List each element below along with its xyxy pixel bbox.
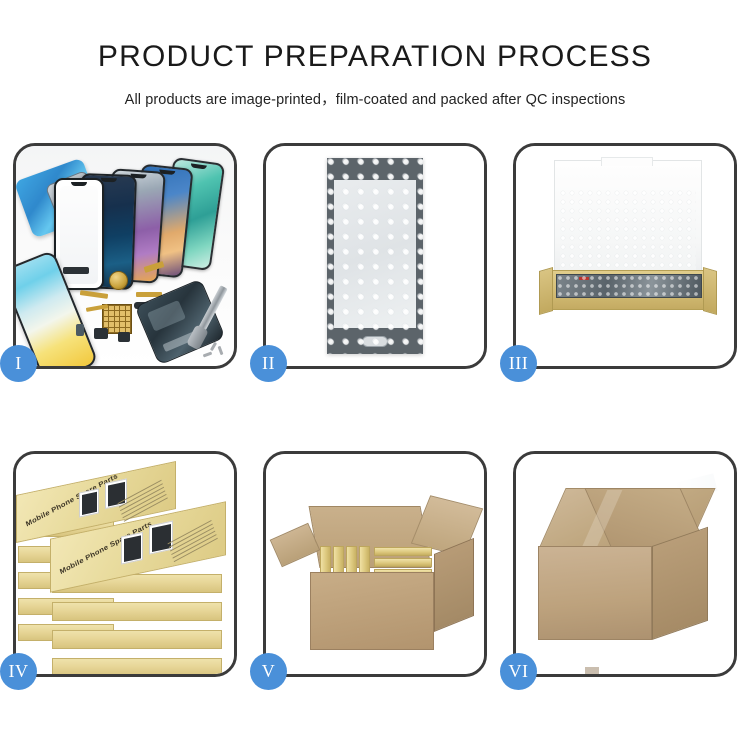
process-step-panel-5: V xyxy=(263,451,487,677)
flex-cable-icon xyxy=(80,290,108,299)
step-badge-1: I xyxy=(0,345,37,382)
stacked-box xyxy=(52,602,222,621)
stacked-box xyxy=(52,658,222,674)
step-badge-5: V xyxy=(250,653,287,690)
packed-box xyxy=(374,558,432,567)
box-art-screen xyxy=(121,532,143,565)
process-step-panel-3: III xyxy=(513,143,737,369)
packing-tape-tab-icon xyxy=(585,667,599,674)
wrapped-screen-in-box xyxy=(556,274,702,298)
home-button-icon xyxy=(362,336,388,347)
carton-front-face xyxy=(310,572,434,650)
step-badge-2: II xyxy=(250,345,287,382)
carton-front-face xyxy=(538,546,652,640)
label-mark-icon xyxy=(579,277,589,280)
step-3-image xyxy=(516,146,734,366)
carton-side-face xyxy=(652,527,708,640)
vibrator-part-icon xyxy=(118,332,130,342)
notch-icon xyxy=(101,178,117,183)
speaker-coil-part-icon xyxy=(109,271,128,290)
step-badge-4: IV xyxy=(0,653,37,690)
step-2-image xyxy=(266,146,484,366)
box-spec-lines xyxy=(168,520,219,565)
bubble-wrap-texture-icon xyxy=(327,158,423,354)
process-step-grid: I II xyxy=(13,143,737,677)
process-step-panel-1: I xyxy=(13,143,237,369)
process-step-panel-2: II xyxy=(263,143,487,369)
carton-side-face xyxy=(434,538,474,632)
box-flap-right-icon xyxy=(703,267,717,315)
step-5-image xyxy=(266,454,484,674)
box-stack: Mobile Phone Spare Parts Mobile Phone Sp… xyxy=(16,454,234,674)
step-6-image xyxy=(516,454,734,674)
connector-part-icon xyxy=(76,324,84,336)
camera-part-icon xyxy=(94,328,108,339)
header: PRODUCT PREPARATION PROCESS All products… xyxy=(0,0,750,109)
step-4-image: Mobile Phone Spare Parts Mobile Phone Sp… xyxy=(16,454,234,674)
step-1-image xyxy=(16,146,234,366)
chip-part-icon xyxy=(63,267,89,274)
step-badge-3: III xyxy=(500,345,537,382)
infographic-page: PRODUCT PREPARATION PROCESS All products… xyxy=(0,0,750,750)
page-title: PRODUCT PREPARATION PROCESS xyxy=(0,42,750,72)
step-badge-6: VI xyxy=(500,653,537,690)
kraft-box-tray-icon xyxy=(549,270,707,310)
notch-icon xyxy=(190,163,206,169)
notch-icon xyxy=(71,182,87,186)
screw-icon xyxy=(203,352,212,358)
box-art-screen xyxy=(79,488,99,517)
box-flap-left-icon xyxy=(539,267,553,315)
bubble-wrapped-screen xyxy=(327,158,423,354)
packed-box xyxy=(374,547,432,556)
process-step-panel-6: VI xyxy=(513,451,737,677)
process-step-panel-4: Mobile Phone Spare Parts Mobile Phone Sp… xyxy=(13,451,237,677)
screw-icon xyxy=(218,346,224,355)
stacked-box xyxy=(52,630,222,649)
page-subtitle: All products are image-printed，film-coat… xyxy=(0,88,750,109)
foam-lining-icon xyxy=(560,190,696,276)
